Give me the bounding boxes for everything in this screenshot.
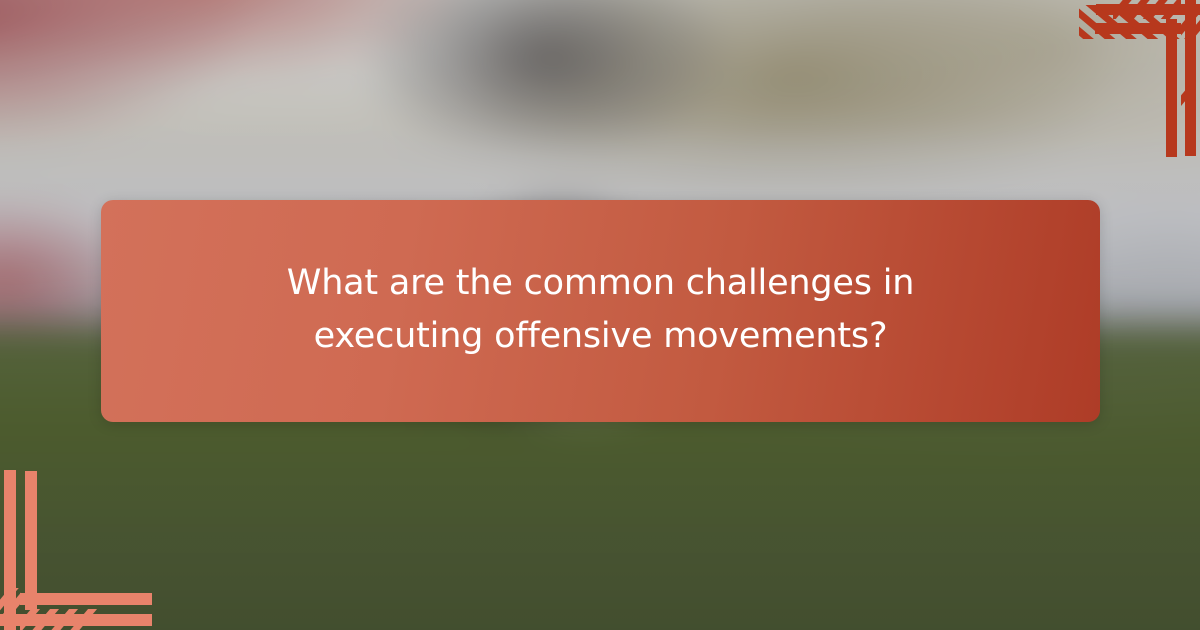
ornament-bar-vertical-inner <box>1166 19 1177 157</box>
question-text: What are the common challenges in execut… <box>251 257 951 365</box>
corner-ornament-bottom-left <box>0 465 170 630</box>
ornament-hatch-right <box>1181 34 1192 156</box>
ornament-hatch-right-diagonals <box>1079 5 1200 39</box>
ornament-hatch-bottom <box>20 609 98 630</box>
social-card-canvas: What are the common challenges in execut… <box>0 0 1200 630</box>
ornament-bar-horizontal-inner <box>20 593 152 605</box>
corner-ornament-top-right <box>1040 0 1200 160</box>
question-card: What are the common challenges in execut… <box>101 200 1100 422</box>
ornament-bar-vertical-inner <box>25 471 37 610</box>
ornament-hatch-elbow <box>0 588 21 614</box>
